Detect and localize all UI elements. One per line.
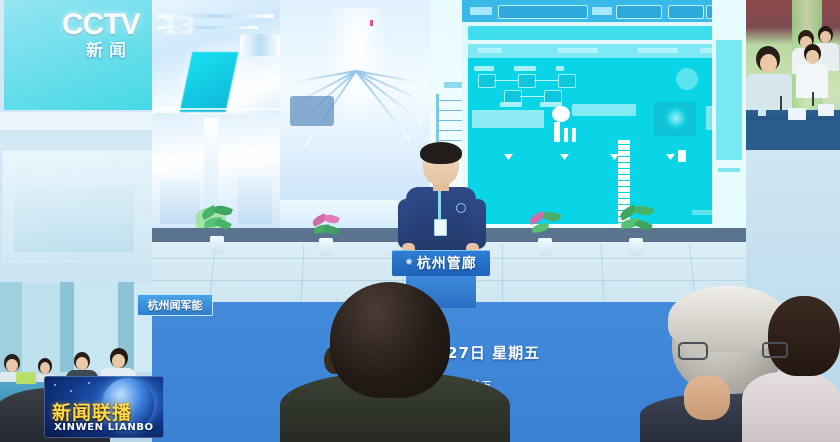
status-indicator — [676, 68, 698, 90]
speaker-hair — [420, 142, 462, 164]
badge — [434, 219, 447, 236]
pipe-line — [240, 34, 280, 56]
video-wall-panel-right-strip — [712, 0, 746, 228]
floor-grout — [502, 244, 503, 302]
toolbar-label — [592, 7, 612, 15]
strip-line — [718, 168, 740, 172]
attendee-gray-hair-hand — [684, 376, 730, 420]
toolbar-button[interactable] — [668, 5, 704, 19]
microphone — [780, 96, 782, 110]
feed-divider — [152, 108, 280, 110]
audience-face — [76, 357, 88, 370]
corridor-glow — [326, 8, 388, 128]
speaker-arm-left — [398, 199, 414, 249]
wall-trim — [0, 112, 156, 130]
potted-plant — [528, 212, 562, 256]
channel-number: 13 — [162, 12, 195, 40]
light-beam — [204, 118, 218, 214]
pipe-gallery-emblem-icon: ✺ — [405, 258, 414, 268]
diagram-bar — [554, 122, 560, 142]
fan-icon — [664, 106, 688, 130]
diagram-tab[interactable] — [638, 48, 678, 53]
diagram-region — [472, 110, 544, 128]
diagram-link — [534, 80, 558, 81]
attendee-dark-hair-head — [330, 282, 450, 398]
table-cloth — [746, 120, 840, 150]
nameplate — [818, 104, 834, 116]
diagram-node[interactable] — [478, 74, 496, 88]
dashboard-subbar — [468, 26, 740, 40]
plant-pot — [629, 238, 643, 256]
diagram-valve — [552, 106, 570, 122]
plant-pot — [210, 236, 224, 254]
diagram-node[interactable] — [518, 74, 536, 88]
channel-subtitle: 新闻 — [86, 36, 132, 61]
diagram-link — [494, 80, 518, 81]
potted-plant — [310, 214, 342, 256]
broadcast-frame: ······· ···· — [0, 0, 840, 442]
audience-face — [40, 362, 50, 374]
toolbar-label — [470, 7, 492, 15]
table-item — [16, 372, 36, 384]
speaker-arm-right — [470, 199, 486, 249]
seated-officials-panel — [746, 0, 840, 150]
strip-block — [716, 40, 742, 160]
floor-grout — [600, 244, 604, 302]
node-label — [474, 66, 494, 71]
plant-pot — [319, 238, 333, 256]
podium-speaker — [404, 145, 478, 255]
diagram-bar — [564, 128, 568, 142]
audience-face — [6, 359, 18, 372]
location-tag: 杭州闻军能 — [137, 294, 213, 316]
microphone — [812, 92, 814, 106]
nameplate — [788, 108, 806, 120]
toolbar-select[interactable] — [616, 5, 662, 19]
node-label — [556, 66, 564, 71]
attendee-woman-body — [742, 372, 840, 442]
valve-icon — [504, 154, 513, 160]
valve-icon — [666, 154, 675, 160]
podium-label: 杭州管廊 — [417, 253, 477, 273]
dashboard-diagram — [468, 44, 740, 224]
diagram-region — [572, 104, 636, 116]
potted-plant — [200, 206, 234, 254]
emblem-icon — [456, 203, 466, 213]
equipment-shape — [238, 176, 272, 224]
plant-pot — [538, 238, 552, 256]
tunnel-equipment — [290, 96, 334, 126]
indicator-light — [370, 20, 373, 26]
valve-icon — [560, 154, 569, 160]
audience-face — [112, 354, 125, 368]
wall-inner-panel — [14, 186, 134, 252]
node-label — [514, 66, 536, 71]
cup — [758, 106, 766, 116]
toolbar-input[interactable] — [498, 5, 588, 19]
program-name-en: XINWEN LIANBO — [54, 422, 154, 433]
channel-logo: 13 CCTV 新闻 — [44, 6, 180, 58]
program-name-cn: 新闻联播 — [52, 398, 132, 425]
program-logo: 新闻联播 XINWEN LIANBO — [44, 376, 164, 438]
equipment-shape — [160, 180, 200, 224]
location-tag-label: 杭州闻军能 — [148, 297, 203, 313]
eyeglasses-icon — [678, 342, 708, 360]
floor-grout — [300, 244, 304, 302]
attendee-woman-head — [768, 296, 840, 376]
potted-plant — [618, 206, 654, 256]
diagram-tab[interactable] — [558, 48, 598, 53]
diagram-device — [678, 150, 686, 162]
eyeglasses-icon — [762, 342, 788, 358]
lanyard — [438, 191, 441, 221]
diagram-tab[interactable] — [478, 48, 502, 53]
dashboard-toolbar — [462, 0, 746, 22]
diagram-node[interactable] — [558, 74, 576, 88]
diagram-bar — [572, 128, 576, 142]
podium-sign: ✺ 杭州管廊 — [392, 250, 490, 276]
video-wall-panel-dashboard — [462, 0, 746, 228]
diagram-link — [520, 96, 544, 97]
node-label — [500, 102, 522, 107]
